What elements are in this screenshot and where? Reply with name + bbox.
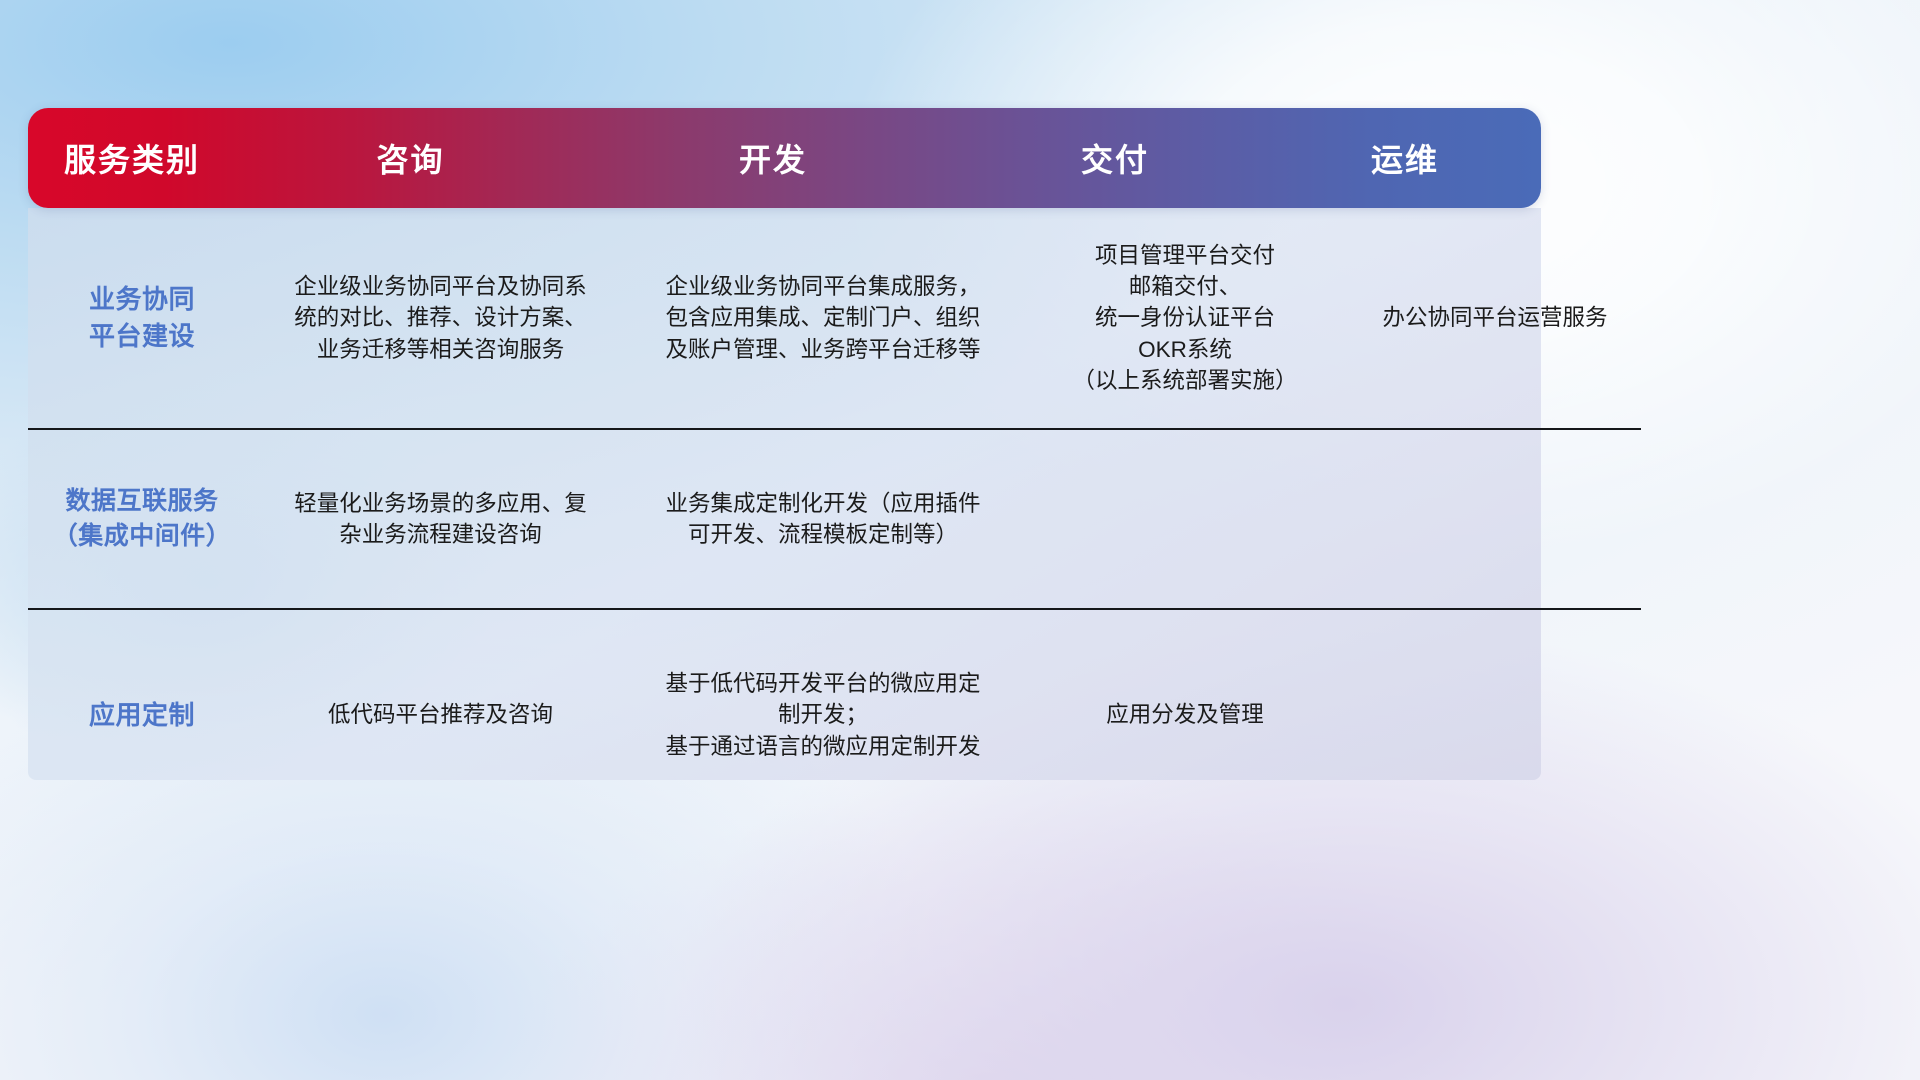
cell-delivery [1021,429,1349,609]
row-category-label: 业务协同 平台建设 [28,208,256,429]
header-development: 开发 [585,135,961,181]
cell-development: 业务集成定制化开发（应用插件 可开发、流程模板定制等） [625,429,1021,609]
table-row: 数据互联服务 （集成中间件） 轻量化业务场景的多应用、复 杂业务流程建设咨询 业… [28,429,1641,609]
header-operations: 运维 [1269,135,1541,181]
cell-operations: 办公协同平台运营服务 [1349,208,1641,429]
cell-development: 企业级业务协同平台集成服务， 包含应用集成、定制门户、组织 及账户管理、业务跨平… [625,208,1021,429]
header-service-category: 服务类别 [28,135,236,181]
cell-delivery: 应用分发及管理 [1021,609,1349,820]
cell-consulting: 企业级业务协同平台及协同系 统的对比、推荐、设计方案、 业务迁移等相关咨询服务 [256,208,625,429]
cell-operations [1349,609,1641,820]
service-category-table: 服务类别 咨询 开发 交付 运维 业务协同 平台建设 企业级业务协同平台及协同系… [28,108,1541,780]
header-delivery: 交付 [961,135,1269,181]
cell-development: 基于低代码开发平台的微应用定 制开发； 基于通过语言的微应用定制开发 [625,609,1021,820]
table-row: 业务协同 平台建设 企业级业务协同平台及协同系 统的对比、推荐、设计方案、 业务… [28,208,1641,429]
cell-operations [1349,429,1641,609]
header-consulting: 咨询 [236,135,585,181]
cell-delivery: 项目管理平台交付 邮箱交付、 统一身份认证平台 OKR系统 （以上系统部署实施） [1021,208,1349,429]
table-body-grid: 业务协同 平台建设 企业级业务协同平台及协同系 统的对比、推荐、设计方案、 业务… [28,208,1641,820]
row-category-label: 数据互联服务 （集成中间件） [28,429,256,609]
row-category-label: 应用定制 [28,609,256,820]
cell-consulting: 轻量化业务场景的多应用、复 杂业务流程建设咨询 [256,429,625,609]
table-row: 应用定制 低代码平台推荐及咨询 基于低代码开发平台的微应用定 制开发； 基于通过… [28,609,1641,820]
cell-consulting: 低代码平台推荐及咨询 [256,609,625,820]
table-header-bar: 服务类别 咨询 开发 交付 运维 [28,108,1541,208]
